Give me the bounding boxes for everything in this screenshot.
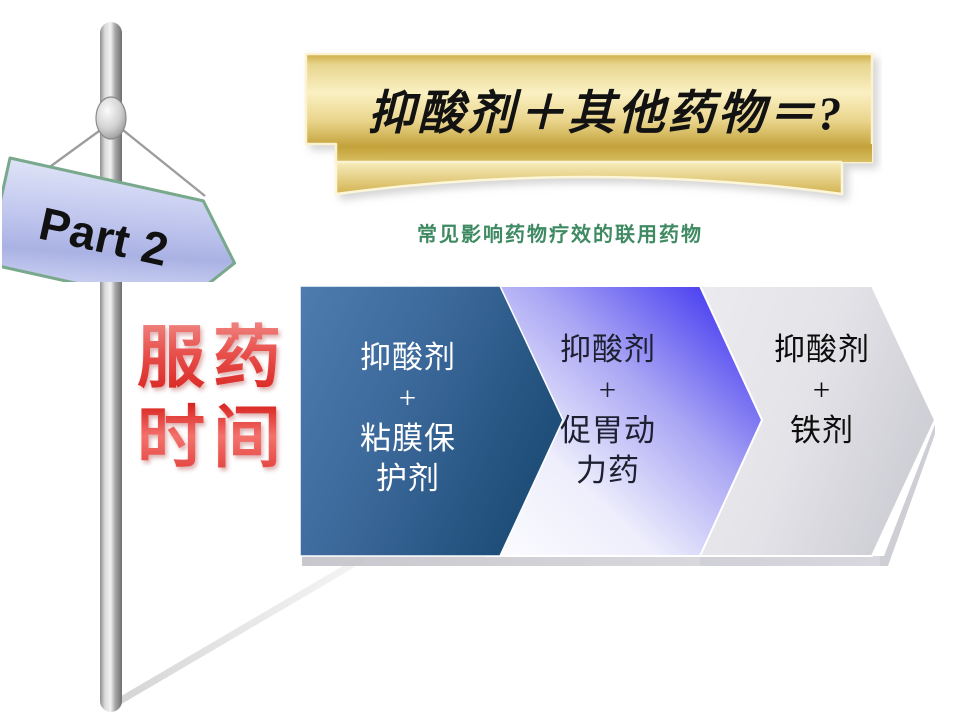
chevron-diagram: 抑酸剂 + 粘膜保 护剂 抑酸剂 + 促胃动 力药 抑酸剂 + 铁剂 bbox=[0, 0, 960, 720]
chevron-2-label: 抑酸剂 + 促胃动 力药 bbox=[528, 330, 688, 491]
chevron-base-edge-strip bbox=[302, 556, 880, 566]
chevron-1-label: 抑酸剂 + 粘膜保 护剂 bbox=[318, 338, 498, 499]
chevron-3-label: 抑酸剂 + 铁剂 bbox=[742, 330, 902, 451]
